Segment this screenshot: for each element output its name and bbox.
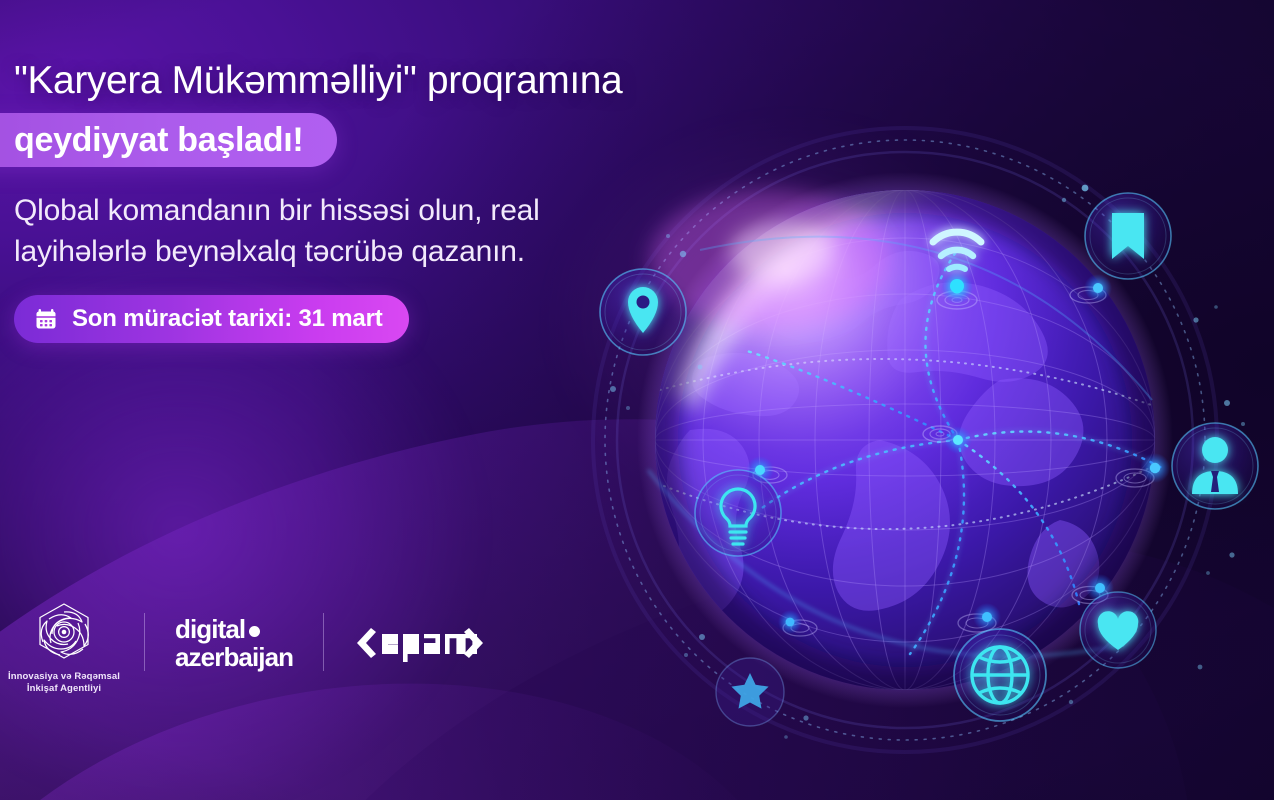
- deadline-badge[interactable]: Son müraciət tarixi: 31 mart: [14, 295, 409, 343]
- highlight-text: qeydiyyat başladı!: [14, 121, 303, 160]
- subtitle-line-2: layihələrlə beynəlxalq təcrübə qazanın.: [14, 231, 694, 272]
- logo-divider-2: [323, 613, 324, 671]
- logo-iria[interactable]: İnnovasiya və Rəqəmsal İnkişaf Agentliyi: [14, 601, 114, 696]
- logo-divider-1: [144, 613, 145, 671]
- da-word-digital: digital: [175, 615, 245, 643]
- logo-epam[interactable]: [354, 620, 486, 666]
- iria-caption-line-2: İnkişaf Agentliyi: [8, 683, 120, 696]
- page-title: "Karyera Mükəmməlliyi" proqramına: [14, 58, 734, 104]
- da-word-azerbaijan: azerbaijan: [175, 643, 293, 671]
- logo-digital-azerbaijan[interactable]: digital azerbaijan: [175, 615, 293, 671]
- highlight-pill: qeydiyyat başladı!: [0, 113, 337, 167]
- calendar-icon: [34, 307, 58, 331]
- promo-banner: "Karyera Mükəmməlliyi" proqramına qeydiy…: [0, 0, 1274, 800]
- subtitle: Qlobal komandanın bir hissəsi olun, real…: [14, 190, 694, 272]
- iria-caption: İnnovasiya və Rəqəmsal İnkişaf Agentliyi: [8, 671, 120, 696]
- iria-caption-line-1: İnnovasiya və Rəqəmsal: [8, 671, 120, 684]
- epam-wordmark: [354, 620, 486, 666]
- subtitle-line-1: Qlobal komandanın bir hissəsi olun, real: [14, 190, 694, 231]
- bullet-dot-icon: [249, 626, 260, 637]
- deadline-text: Son müraciət tarixi: 31 mart: [72, 305, 383, 333]
- text-content: "Karyera Mükəmməlliyi" proqramına qeydiy…: [0, 0, 740, 800]
- iria-hexagon-aperture-logo: [32, 601, 96, 665]
- logo-bar: İnnovasiya və Rəqəmsal İnkişaf Agentliyi…: [14, 598, 486, 698]
